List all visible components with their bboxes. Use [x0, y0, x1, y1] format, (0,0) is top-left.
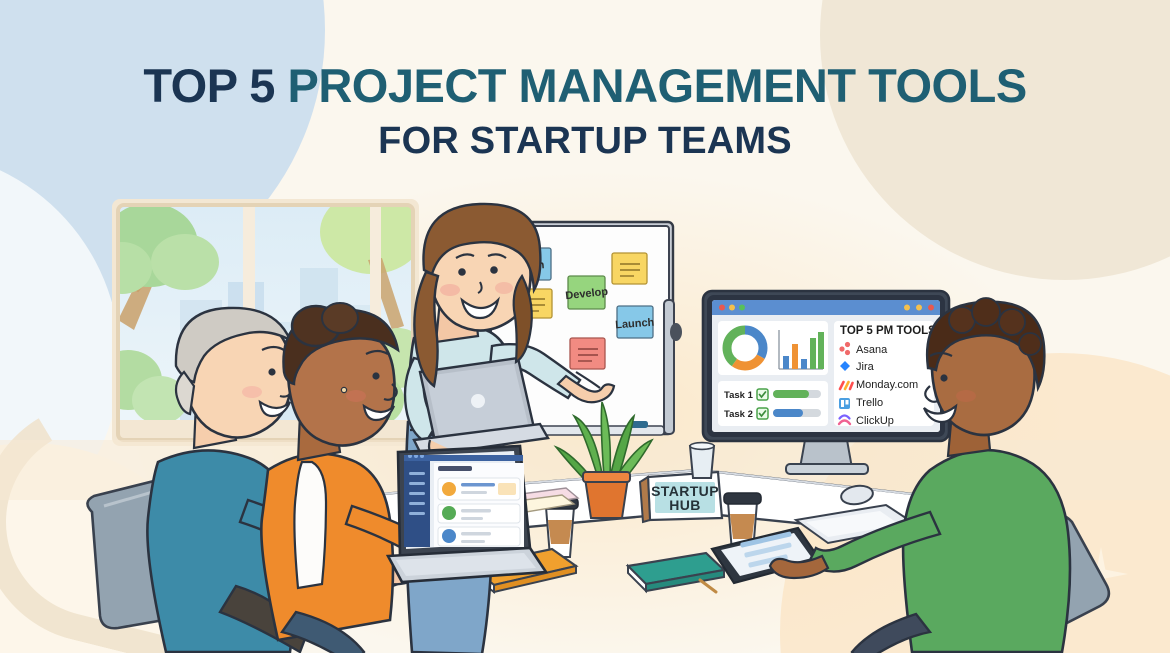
title-part-one: TOP 5 [143, 59, 287, 112]
monitor-panel-heading: TOP 5 PM TOOLS [840, 325, 936, 337]
page-title: TOP 5 PROJECT MANAGEMENT TOOLS [0, 62, 1170, 111]
sticky-note-develop: Develop [565, 276, 609, 309]
svg-text:Task 2: Task 2 [724, 409, 753, 420]
startup-hub-sign: STARTUP HUB [640, 472, 722, 522]
svg-text:Trello: Trello [856, 397, 883, 409]
title-part-two: PROJECT MANAGEMENT TOOLS [288, 59, 1027, 112]
svg-text:Jira: Jira [856, 361, 875, 373]
svg-text:Monday.com: Monday.com [856, 379, 918, 391]
svg-text:Task 1: Task 1 [724, 390, 754, 401]
sticky-note-yellow-b [612, 253, 647, 284]
sticky-note-launch: Launch [615, 306, 655, 338]
headline-block: TOP 5 PROJECT MANAGEMENT TOOLS FOR START… [0, 62, 1170, 163]
water-glass [690, 443, 714, 478]
svg-text:ClickUp: ClickUp [856, 415, 894, 427]
svg-text:Asana: Asana [856, 344, 888, 356]
poster-canvas: TOP 5 PROJECT MANAGEMENT TOOLS FOR START… [0, 0, 1170, 653]
sign-line-2: HUB [669, 497, 701, 513]
page-subtitle: FOR STARTUP TEAMS [0, 120, 1170, 163]
sticky-note-red [570, 338, 605, 369]
laptop-screen-content [404, 451, 524, 549]
monitor-screen-content: Task 1 Task 2 TOP 5 PM TOOLS [712, 300, 940, 432]
trello-icon [839, 398, 850, 409]
table-laptop [388, 446, 546, 582]
